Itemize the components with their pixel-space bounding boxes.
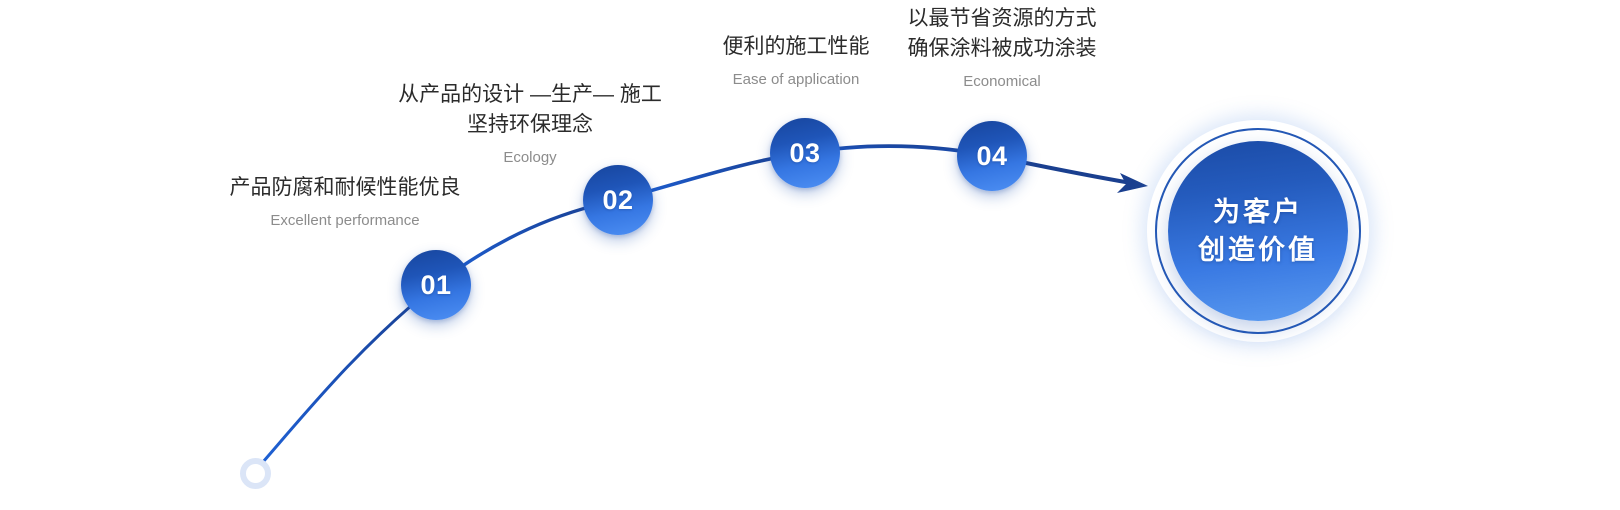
step-caption-en: Ecology: [370, 147, 690, 169]
step-number-label: 04: [976, 143, 1007, 170]
step-caption-en: Excellent performance: [175, 210, 515, 232]
step-caption-04: 以最节省资源的方式 确保涂料被成功涂装 Economical: [880, 4, 1124, 93]
goal-text-line-2: 创造价值: [1198, 231, 1318, 269]
step-number-label: 01: [420, 272, 451, 299]
goal-circle-inner: 为客户 创造价值: [1168, 141, 1348, 321]
step-number-label: 02: [602, 187, 633, 214]
curve-segment-lower: [256, 285, 436, 470]
step-node-02[interactable]: 02: [583, 165, 653, 235]
goal-text-line-1: 为客户: [1213, 193, 1303, 231]
step-caption-cn-line: 确保涂料被成功涂装: [880, 34, 1124, 64]
step-caption-cn-line: 以最节省资源的方式: [880, 4, 1124, 34]
step-caption-03: 便利的施工性能 Ease of application: [686, 32, 906, 91]
step-caption-cn-line: 产品防腐和耐候性能优良: [175, 173, 515, 203]
step-caption-cn-line: 坚持环保理念: [370, 110, 690, 140]
step-node-04[interactable]: 04: [957, 121, 1027, 191]
curve-start-ring-icon: [240, 458, 271, 489]
arrow-head-icon: [1117, 173, 1148, 193]
infographic-canvas: 01 02 03 04 产品防腐和耐候性能优良 Excellent perfor…: [0, 0, 1620, 510]
step-caption-cn-line: 从产品的设计 —生产— 施工: [370, 80, 690, 110]
step-node-03[interactable]: 03: [770, 118, 840, 188]
step-caption-en: Ease of application: [686, 69, 906, 91]
step-caption-en: Economical: [880, 71, 1124, 93]
step-number-label: 03: [789, 140, 820, 167]
step-caption-02: 从产品的设计 —生产— 施工 坚持环保理念 Ecology: [370, 80, 690, 169]
step-caption-cn-line: 便利的施工性能: [686, 32, 906, 62]
goal-circle[interactable]: 为客户 创造价值: [1155, 128, 1361, 334]
step-caption-01: 产品防腐和耐候性能优良 Excellent performance: [175, 173, 515, 232]
step-node-01[interactable]: 01: [401, 250, 471, 320]
